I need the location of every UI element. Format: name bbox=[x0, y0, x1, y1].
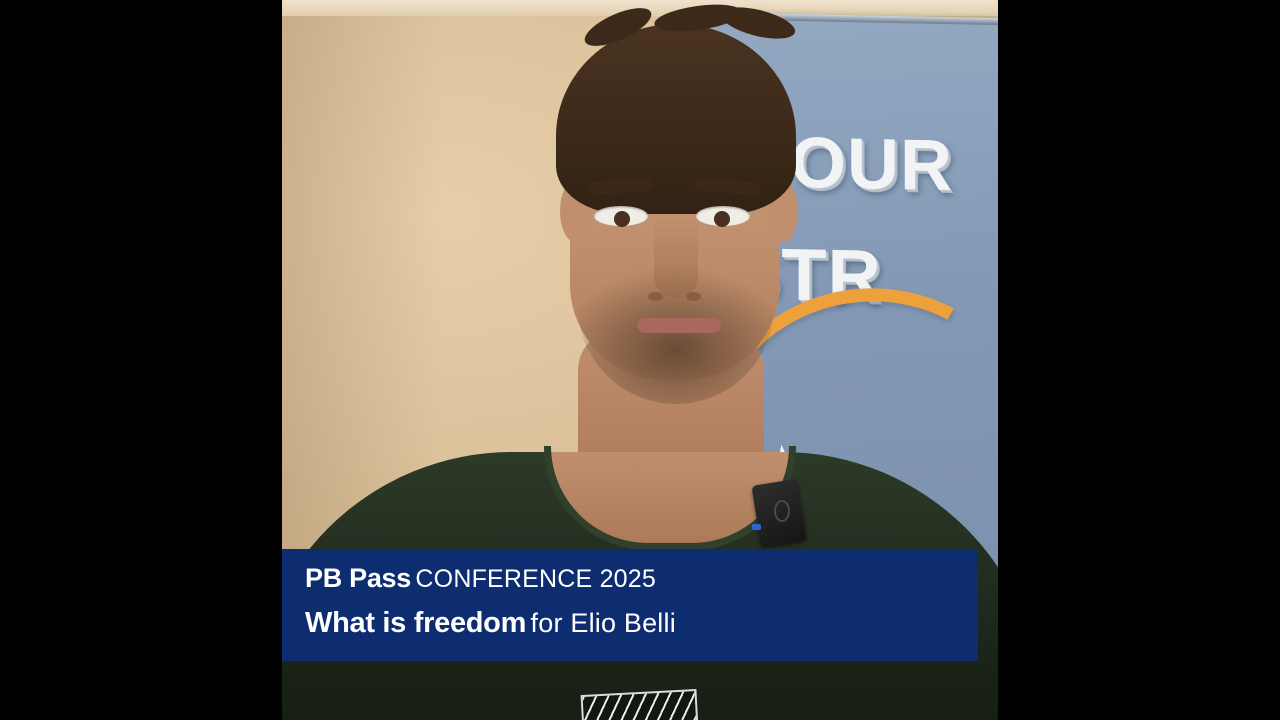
subject-eye-left bbox=[594, 206, 648, 226]
caption-banner: PB Pass CONFERENCE 2025 What is freedom … bbox=[282, 549, 978, 661]
caption-topic: What is freedom bbox=[305, 607, 526, 639]
subject-iris-right bbox=[714, 211, 730, 227]
caption-line-1: PB Pass CONFERENCE 2025 bbox=[305, 563, 978, 594]
video-stage: YOUR STR bbox=[0, 0, 1280, 720]
subject-eye-right bbox=[696, 206, 750, 226]
subject-mouth bbox=[637, 318, 721, 333]
microphone-led-indicator bbox=[752, 524, 761, 530]
caption-brand: PB Pass bbox=[305, 563, 411, 593]
subject-iris-left bbox=[614, 211, 630, 227]
caption-speaker: for Elio Belli bbox=[531, 608, 676, 638]
subject-nostril-left bbox=[648, 292, 663, 301]
letterbox-right bbox=[998, 0, 1280, 720]
subject-nostril-right bbox=[686, 292, 701, 301]
microphone-brand-glyph-icon bbox=[774, 500, 790, 522]
shirt-graphic-logo bbox=[581, 689, 700, 720]
subject-nose bbox=[654, 216, 698, 298]
caption-line-2: What is freedom for Elio Belli bbox=[305, 607, 978, 640]
caption-event: CONFERENCE 2025 bbox=[415, 565, 656, 593]
letterbox-left bbox=[0, 0, 282, 720]
